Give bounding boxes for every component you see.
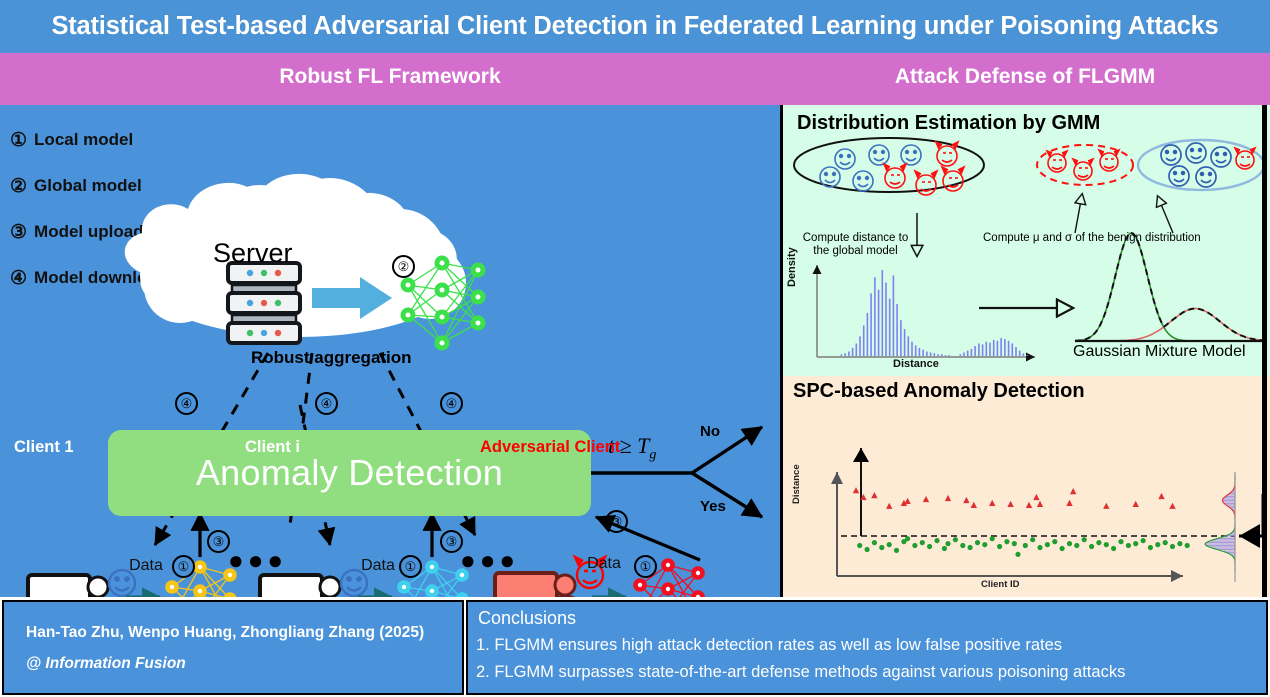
histogram-xlabel: Distance [893,358,939,370]
poster-title-bar: Statistical Test-based Adversarial Clien… [0,0,1270,53]
venue-line: @ Information Fusion [26,655,186,673]
branch-label-no: No [700,423,720,440]
gmm-to-spc-arrow [1239,494,1263,536]
gmm-model-label: Gaussian Mixture Model [1073,343,1246,361]
authors-line: Han-Tao Zhu, Wenpo Huang, Zhongliang Zha… [26,624,424,642]
upload-marker-3: ③ [605,510,628,533]
panel-right-border [1262,105,1267,597]
local-marker-1: ① [172,555,195,578]
benign-cluster-ellipse [1138,140,1264,190]
data-label-1: Data [120,557,172,575]
download-marker-1: ④ [175,392,198,415]
server-label: Server [213,238,293,269]
band-label-right: Attack Defense of FLGMM [780,65,1270,89]
upload-marker-1: ③ [207,530,230,553]
anomaly-detection-label: Anomaly Detection [196,452,503,494]
robust-fl-framework-panel: ① Local model ② Global model ③ Model upl… [0,105,780,597]
robust-aggregation-label: Robust aggregation [251,348,412,368]
conclusions-footer: Conclusions 1. FLGMM ensures high attack… [466,600,1268,695]
spc-marginal-density [1205,474,1235,572]
compute-distance-note: Compute distance to the global model [793,232,918,258]
laptop-icon-adversarial [487,573,565,597]
poster-root: Statistical Test-based Adversarial Clien… [0,0,1270,697]
ellipsis-2: ●●● [460,545,519,576]
laptop-icon [252,575,330,597]
client-1-label: Client 1 [14,438,74,457]
benign-faces-mixed [820,145,921,191]
adversarial-cluster-faces [1047,150,1119,180]
spc-xlabel: Client ID [981,579,1020,590]
gmm-panel: Distribution Estimation by GMM [780,105,1270,377]
authors-footer: Han-Tao Zhu, Wenpo Huang, Zhongliang Zha… [2,600,464,695]
adversarial-client-label: Adversarial Client [480,438,620,457]
client-i-label: Client i [245,438,300,457]
gmm-curves [1075,233,1263,341]
circled-2-marker-global: ② [392,255,415,278]
conclusion-item-1: 1. FLGMM ensures high attack detection r… [476,636,1062,655]
histogram-bars [841,270,1027,356]
band-label-left: Robust FL Framework [0,65,780,89]
conclusion-item-2: 2. FLGMM surpasses state-of-the-art defe… [476,663,1125,682]
histogram-ylabel: Density [786,247,798,287]
local-marker-3: ① [634,555,657,578]
compute-mu-sigma-note: Compute μ and σ of the benign distributi… [983,232,1201,245]
spc-data-points [853,487,1190,557]
page-title: Statistical Test-based Adversarial Clien… [51,12,1218,41]
spc-ylabel: Distance [791,464,802,504]
download-marker-3: ④ [440,392,463,415]
adversarial-faces-mixed [884,142,964,195]
conclusions-heading: Conclusions [478,608,576,629]
benign-cluster-faces [1161,143,1231,187]
laptop-icon [20,575,98,597]
distance-histogram [817,265,1035,357]
data-label-2: Data [352,557,404,575]
branch-label-yes: Yes [700,498,726,515]
section-band: Robust FL Framework Attack Defense of FL… [0,53,1270,105]
spc-panel: SPC-based Anomaly Detection [780,376,1270,597]
data-label-3: Data [578,555,630,573]
cluster-pointer-arrows [1075,195,1173,233]
ellipsis-1: ●●● [228,545,287,576]
download-marker-2: ④ [315,392,338,415]
server-rack-icon [228,263,300,343]
spc-chart [783,376,1270,597]
